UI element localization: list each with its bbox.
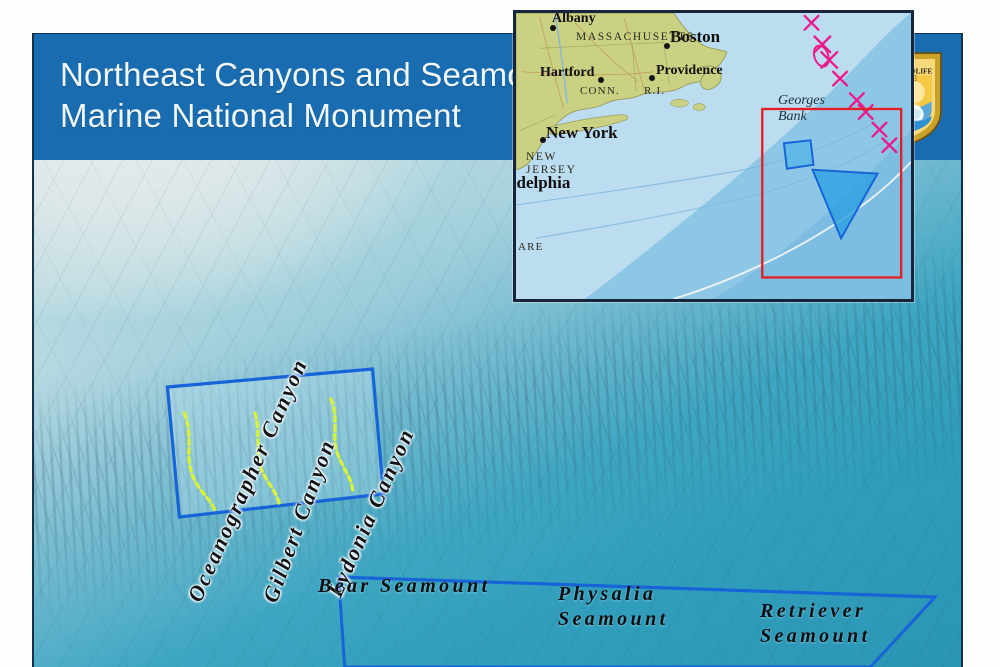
inset-dot-albany: [550, 25, 556, 31]
inset-dot-providence: [649, 75, 655, 81]
inset-dot-new-york: [540, 137, 546, 143]
slide-canvas: Northeast Canyons and Seamounts Marine N…: [0, 0, 1000, 667]
inset-dot-hartford: [598, 77, 604, 83]
inset-map-graphics: [516, 13, 911, 299]
inset-dot-boston: [664, 43, 670, 49]
regional-locator-inset: Albany Boston MASSACHUSETTS Hartford Pro…: [513, 10, 914, 302]
page-title: Northeast Canyons and Seamounts Marine N…: [60, 54, 589, 136]
inset-canyons-unit: [784, 140, 814, 168]
seamounts-unit-boundary: [339, 577, 935, 667]
